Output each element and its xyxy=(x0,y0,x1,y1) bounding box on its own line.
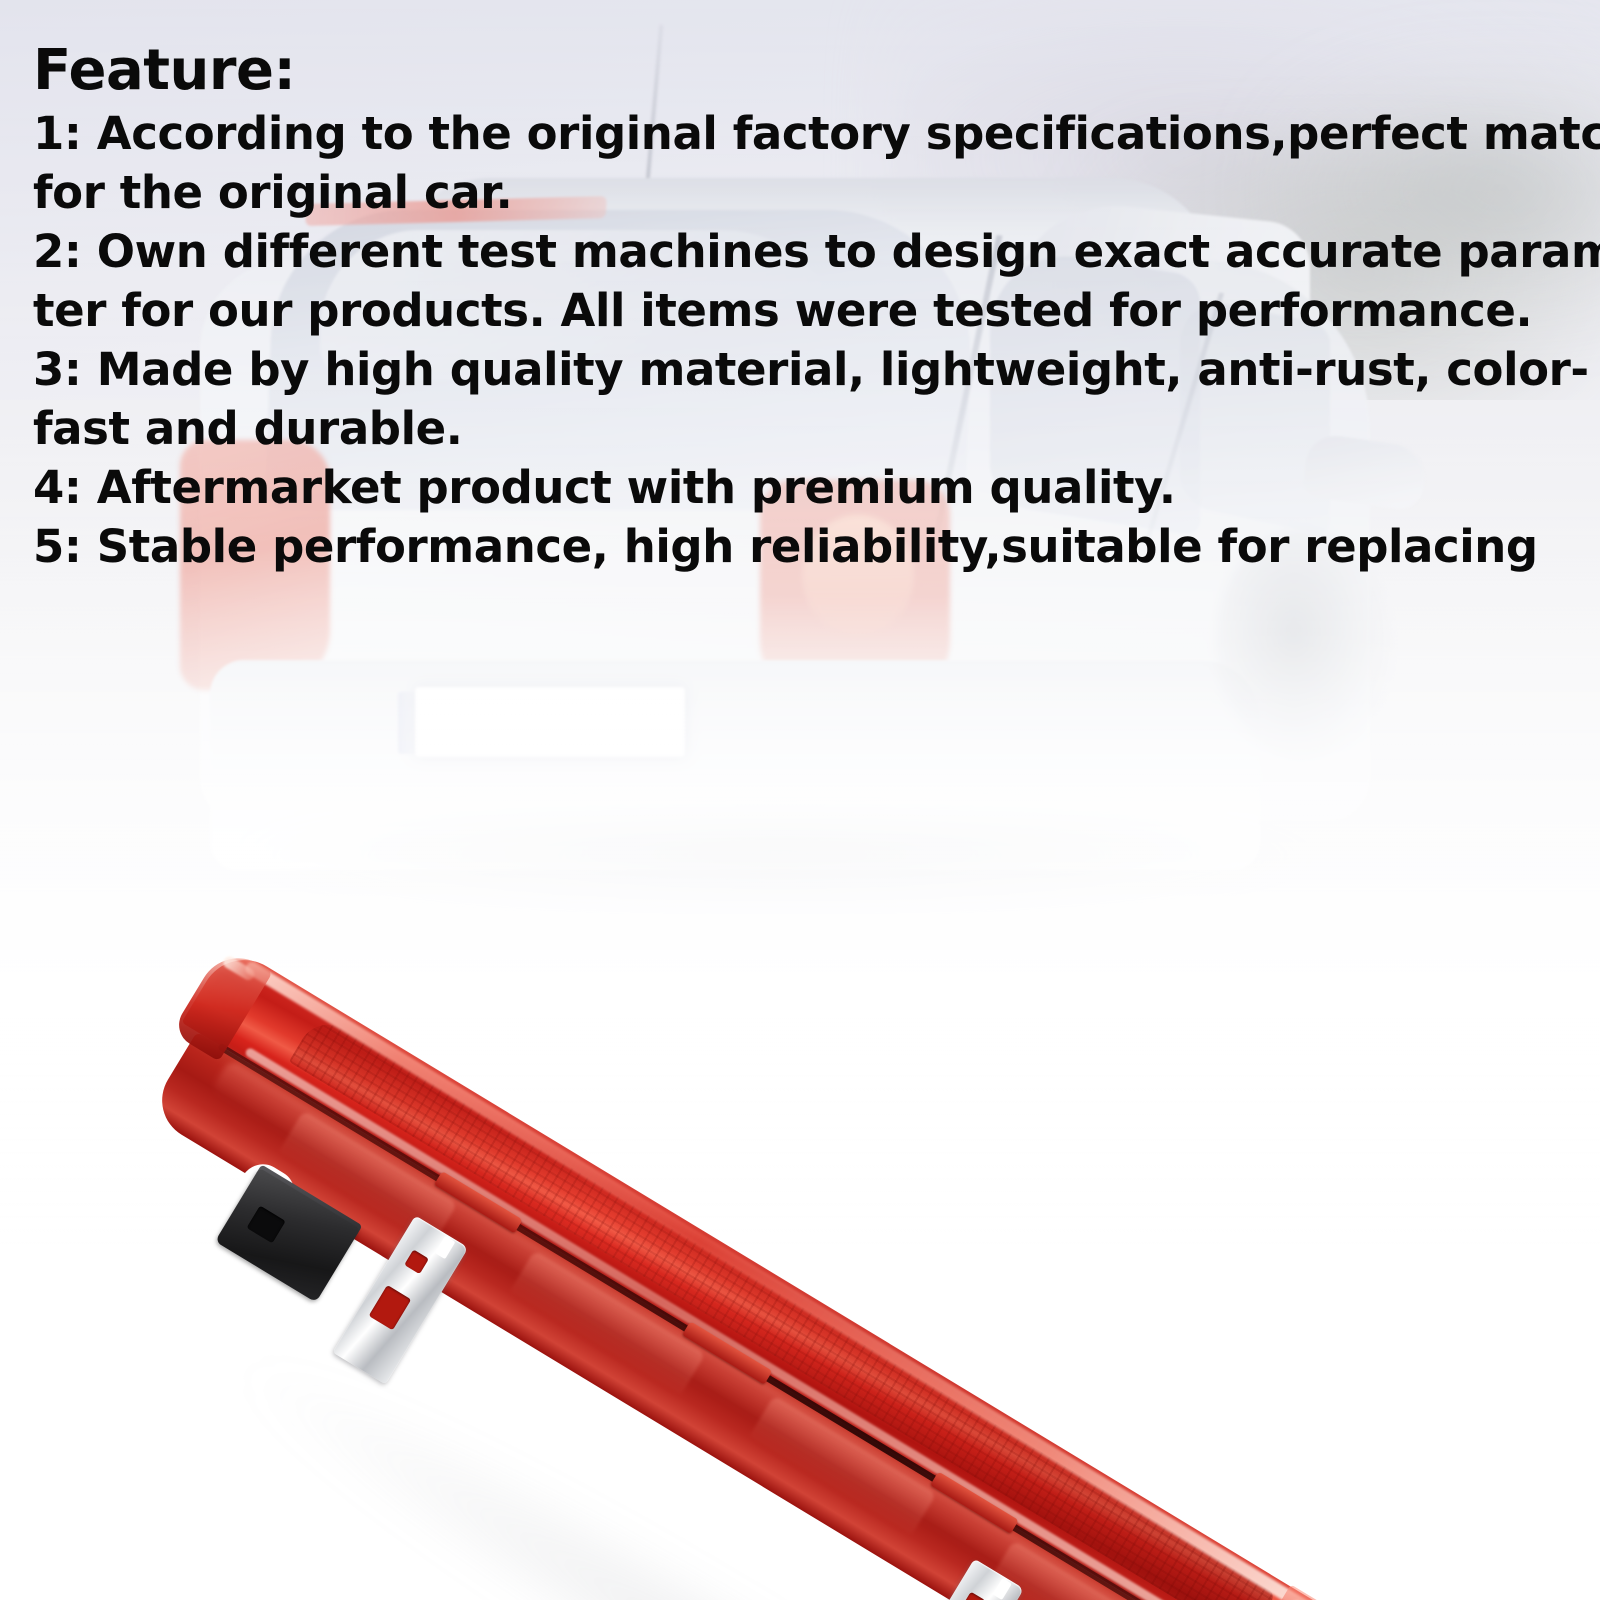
product-image-third-brake-light xyxy=(100,600,1560,1560)
feature-line-2-cont: ter for our products. All items were tes… xyxy=(33,281,1573,340)
feature-line-3: 3: Made by high quality material, lightw… xyxy=(33,340,1573,399)
feature-line-5: 5: Stable performance, high reliability,… xyxy=(33,517,1573,576)
brake-light-assembly xyxy=(131,944,1341,1600)
feature-line-1-cont: for the original car. xyxy=(33,163,1573,222)
feature-line-1: 1: According to the original factory spe… xyxy=(33,104,1573,163)
feature-line-2: 2: Own different test machines to design… xyxy=(33,222,1573,281)
feature-heading: Feature: xyxy=(33,40,1573,102)
product-listing-image: Feature: 1: According to the original fa… xyxy=(0,0,1600,1600)
feature-line-3-cont: fast and durable. xyxy=(33,399,1573,458)
feature-text-block: Feature: 1: According to the original fa… xyxy=(33,40,1573,576)
feature-line-4: 4: Aftermarket product with premium qual… xyxy=(33,458,1573,517)
